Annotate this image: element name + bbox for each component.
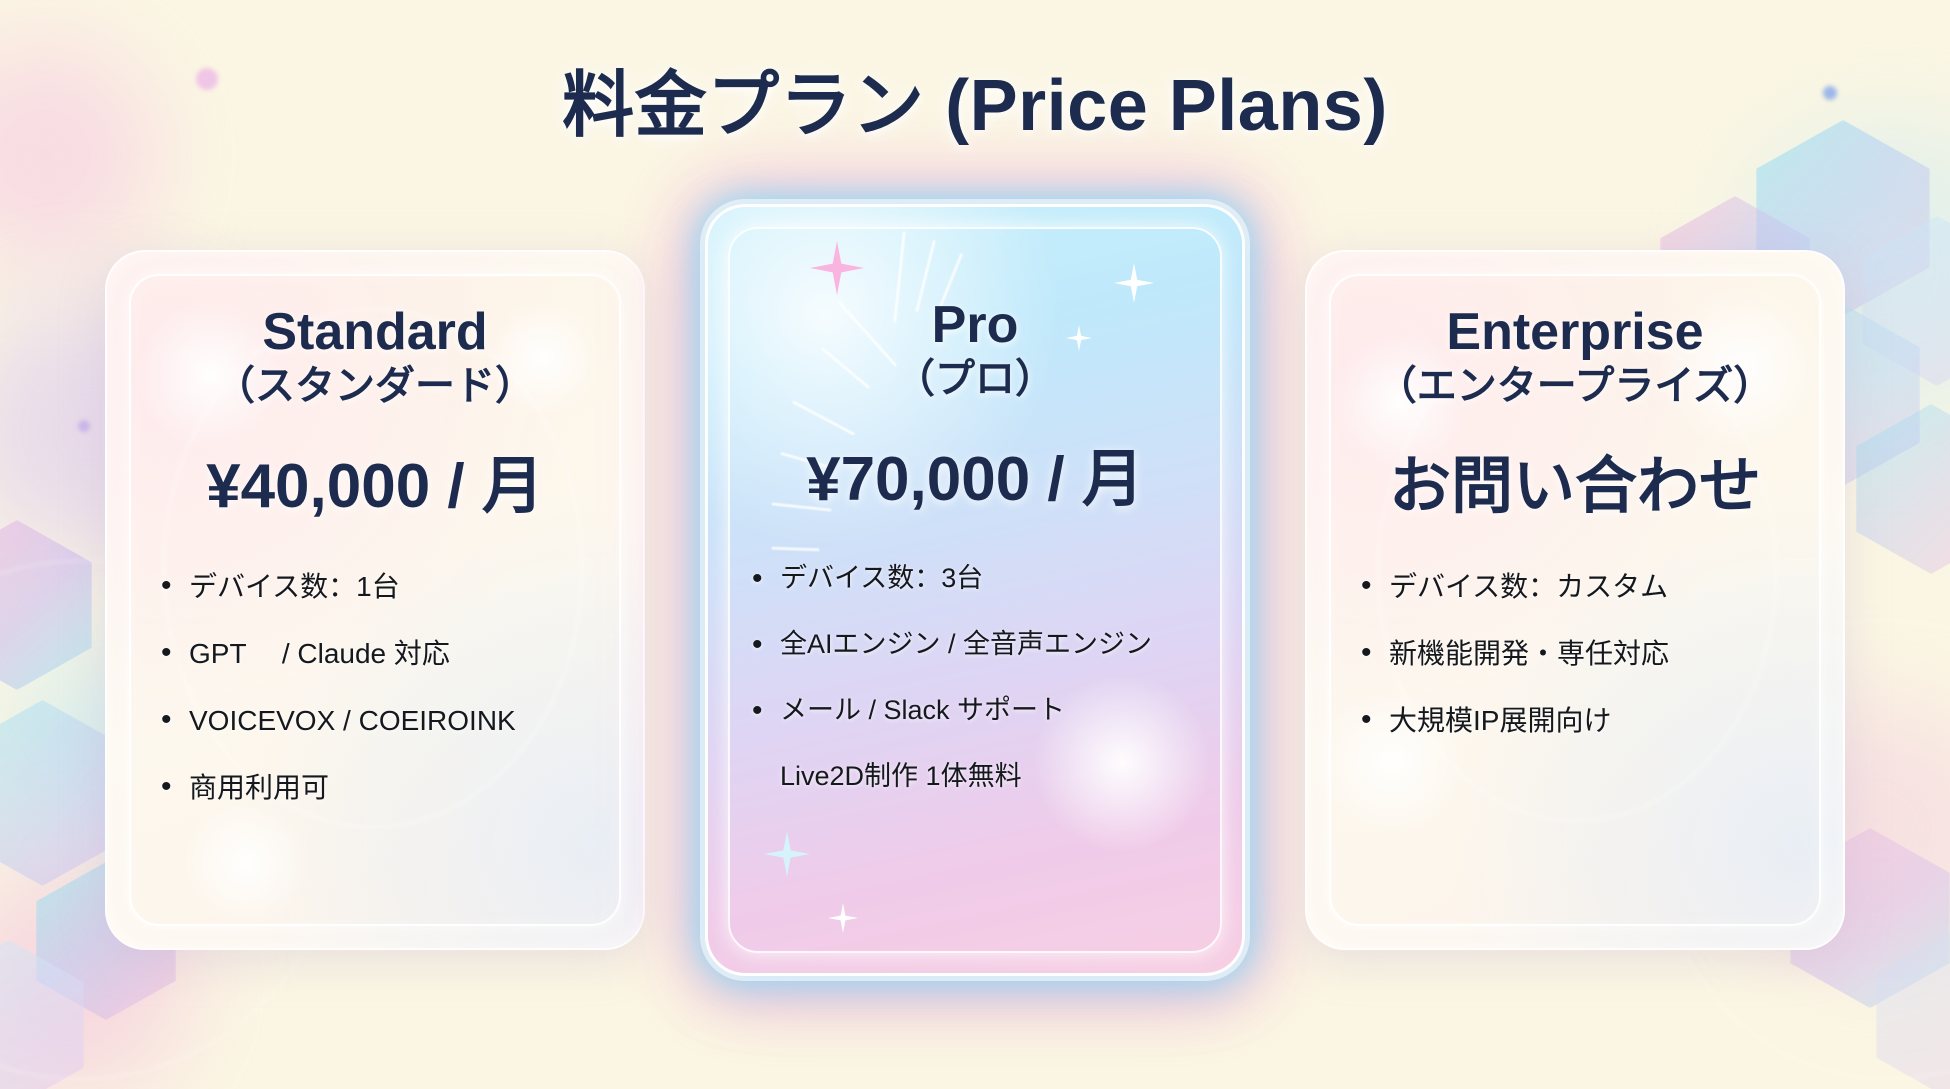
pricing-card-pro[interactable]: Pro （プロ） ¥70,000 / 月 デバイス数：3台 全AIエンジン / … bbox=[705, 204, 1245, 976]
feature-item: Live2D制作 1体無料 bbox=[746, 760, 1208, 794]
plan-name-jp: （プロ） bbox=[895, 354, 1055, 404]
plan-name-jp: （エンタープライズ） bbox=[1377, 361, 1773, 411]
feature-item: 新機能開発・専任対応 bbox=[1355, 636, 1809, 671]
feature-item: GPT / Claude 対応 bbox=[155, 636, 609, 671]
feature-item: VOICEVOX / COEIROINK bbox=[155, 703, 609, 738]
feature-list: デバイス数：カスタム 新機能開発・専任対応 大規模IP展開向け bbox=[1341, 569, 1809, 770]
feature-item: デバイス数：3台 bbox=[746, 562, 1208, 596]
plan-name-jp: （スタンダード） bbox=[215, 361, 535, 411]
plan-name: Enterprise bbox=[1377, 304, 1773, 361]
sparkle-icon bbox=[1066, 325, 1092, 351]
feature-item: 商用利用可 bbox=[155, 770, 609, 805]
plan-heading: Pro （プロ） bbox=[895, 297, 1055, 404]
plan-name: Standard bbox=[215, 304, 535, 361]
feature-item: メール / Slack サポート bbox=[746, 694, 1208, 728]
plan-name: Pro bbox=[895, 297, 1055, 354]
sparkle-icon bbox=[1114, 263, 1154, 303]
pricing-cards-row: Standard （スタンダード） ¥40,000 / 月 デバイス数：1台 G… bbox=[0, 250, 1950, 976]
feature-list: デバイス数：3台 全AIエンジン / 全音声エンジン メール / Slack サ… bbox=[742, 562, 1208, 825]
feature-item: 全AIエンジン / 全音声エンジン bbox=[746, 628, 1208, 662]
feature-item: デバイス数：1台 bbox=[155, 569, 609, 604]
plan-price: お問い合わせ bbox=[1389, 453, 1761, 521]
feature-list: デバイス数：1台 GPT / Claude 対応 VOICEVOX / COEI… bbox=[141, 569, 609, 837]
plan-heading: Enterprise （エンタープライズ） bbox=[1377, 304, 1773, 411]
plan-heading: Standard （スタンダード） bbox=[215, 304, 535, 411]
feature-item: デバイス数：カスタム bbox=[1355, 569, 1809, 604]
sparkle-icon bbox=[764, 831, 810, 877]
plan-price: ¥40,000 / 月 bbox=[206, 453, 544, 521]
page-title: 料金プラン (Price Plans) bbox=[0, 46, 1950, 151]
sparkle-icon bbox=[828, 903, 858, 933]
plan-price: ¥70,000 / 月 bbox=[806, 446, 1144, 514]
feature-item: 大規模IP展開向け bbox=[1355, 703, 1809, 738]
pricing-card-standard[interactable]: Standard （スタンダード） ¥40,000 / 月 デバイス数：1台 G… bbox=[105, 250, 645, 950]
pricing-card-enterprise[interactable]: Enterprise （エンタープライズ） お問い合わせ デバイス数：カスタム … bbox=[1305, 250, 1845, 950]
sparkle-icon bbox=[810, 241, 864, 295]
